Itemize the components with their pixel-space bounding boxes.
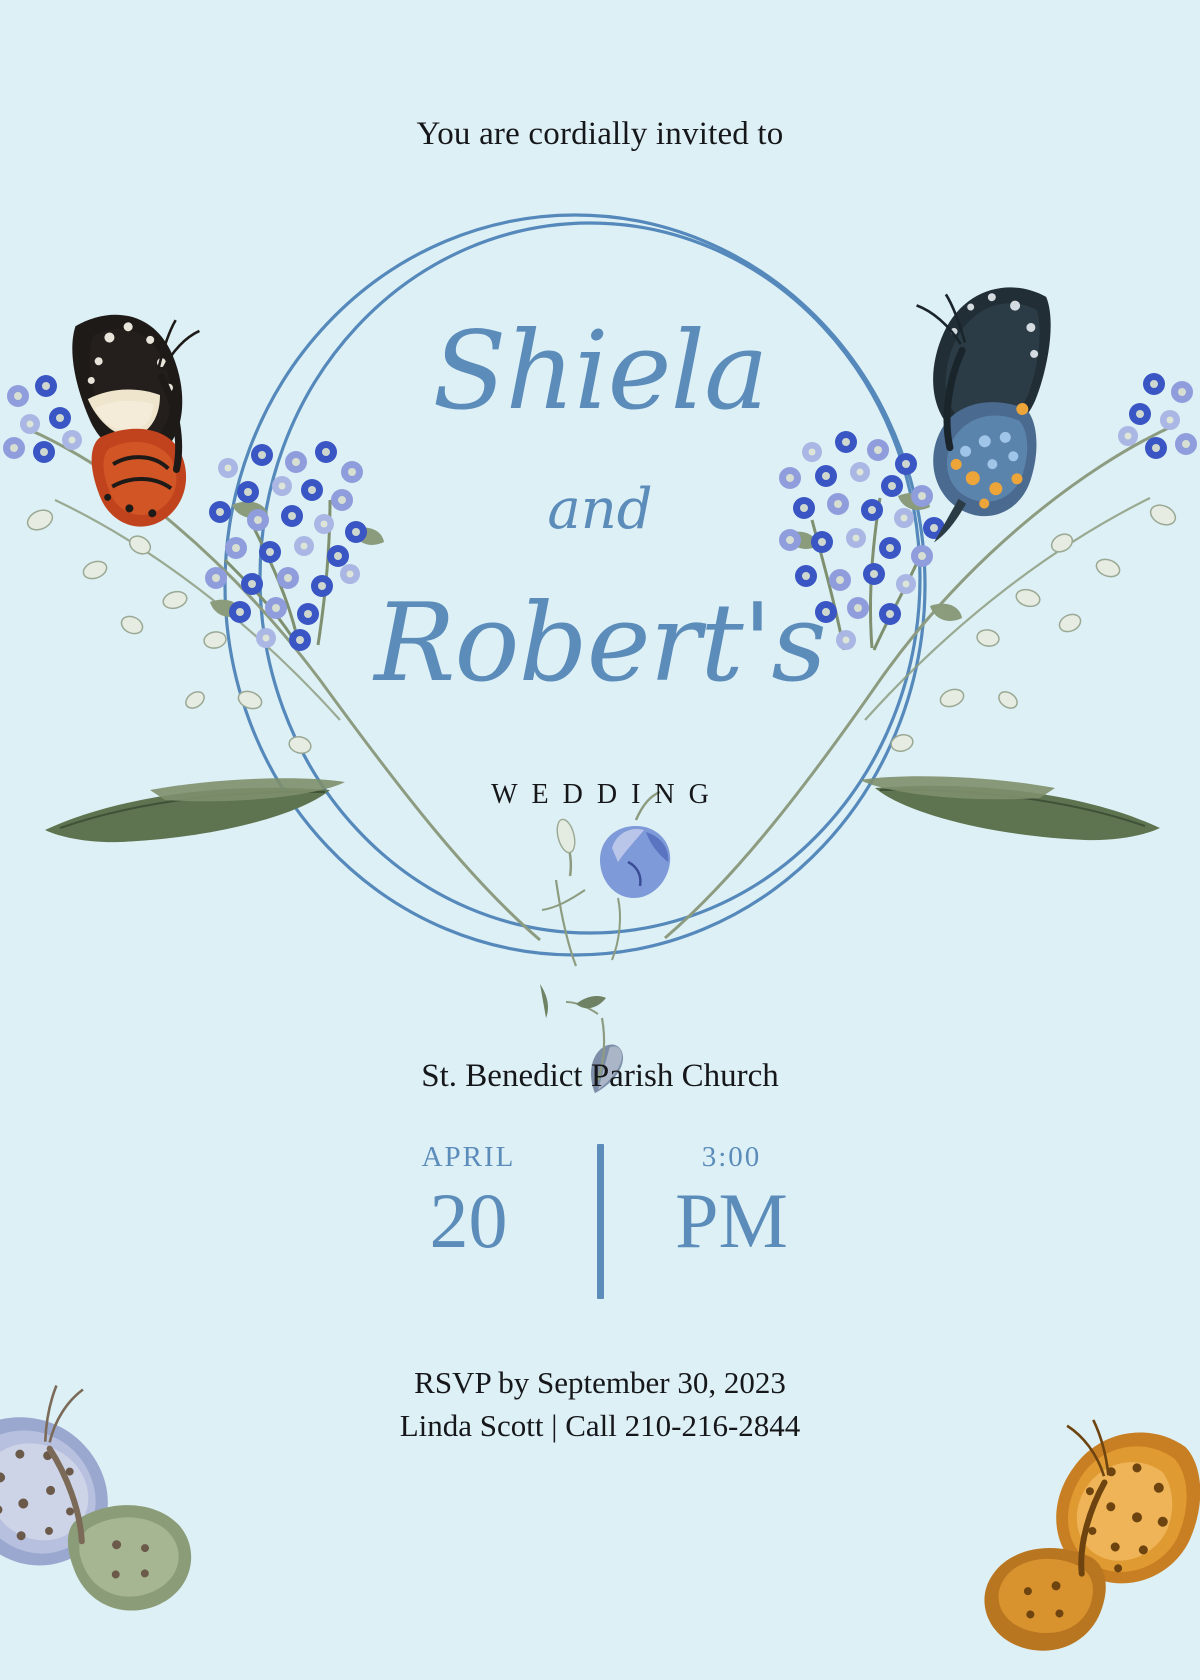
wedding-invitation-card: You are cordially invited to Shiela and …	[0, 0, 1200, 1680]
time-label: 3:00	[642, 1136, 822, 1180]
time-column: 3:00 PM	[642, 1136, 822, 1261]
rsvp-deadline: RSVP by September 30, 2023	[0, 1362, 1200, 1405]
venue-name: St. Benedict Parish Church	[0, 1058, 1200, 1095]
month-label: APRIL	[379, 1136, 559, 1180]
bride-name: Shiela	[0, 318, 1200, 426]
invitation-header-text: You are cordially invited to	[0, 116, 1200, 153]
groom-name: Robert's	[0, 590, 1200, 698]
date-column: APRIL 20	[379, 1136, 559, 1261]
datetime-divider	[597, 1144, 604, 1299]
day-number: 20	[379, 1180, 559, 1262]
names-conjunction: and	[0, 482, 1200, 538]
date-time-block: APRIL 20 3:00 PM	[0, 1136, 1200, 1299]
rsvp-block: RSVP by September 30, 2023 Linda Scott |…	[0, 1362, 1200, 1448]
meridiem-label: PM	[642, 1180, 822, 1262]
event-type-label: WEDDING	[0, 779, 1200, 811]
text-content-layer: You are cordially invited to Shiela and …	[0, 0, 1200, 1680]
rsvp-contact: Linda Scott | Call 210-216-2844	[0, 1405, 1200, 1448]
